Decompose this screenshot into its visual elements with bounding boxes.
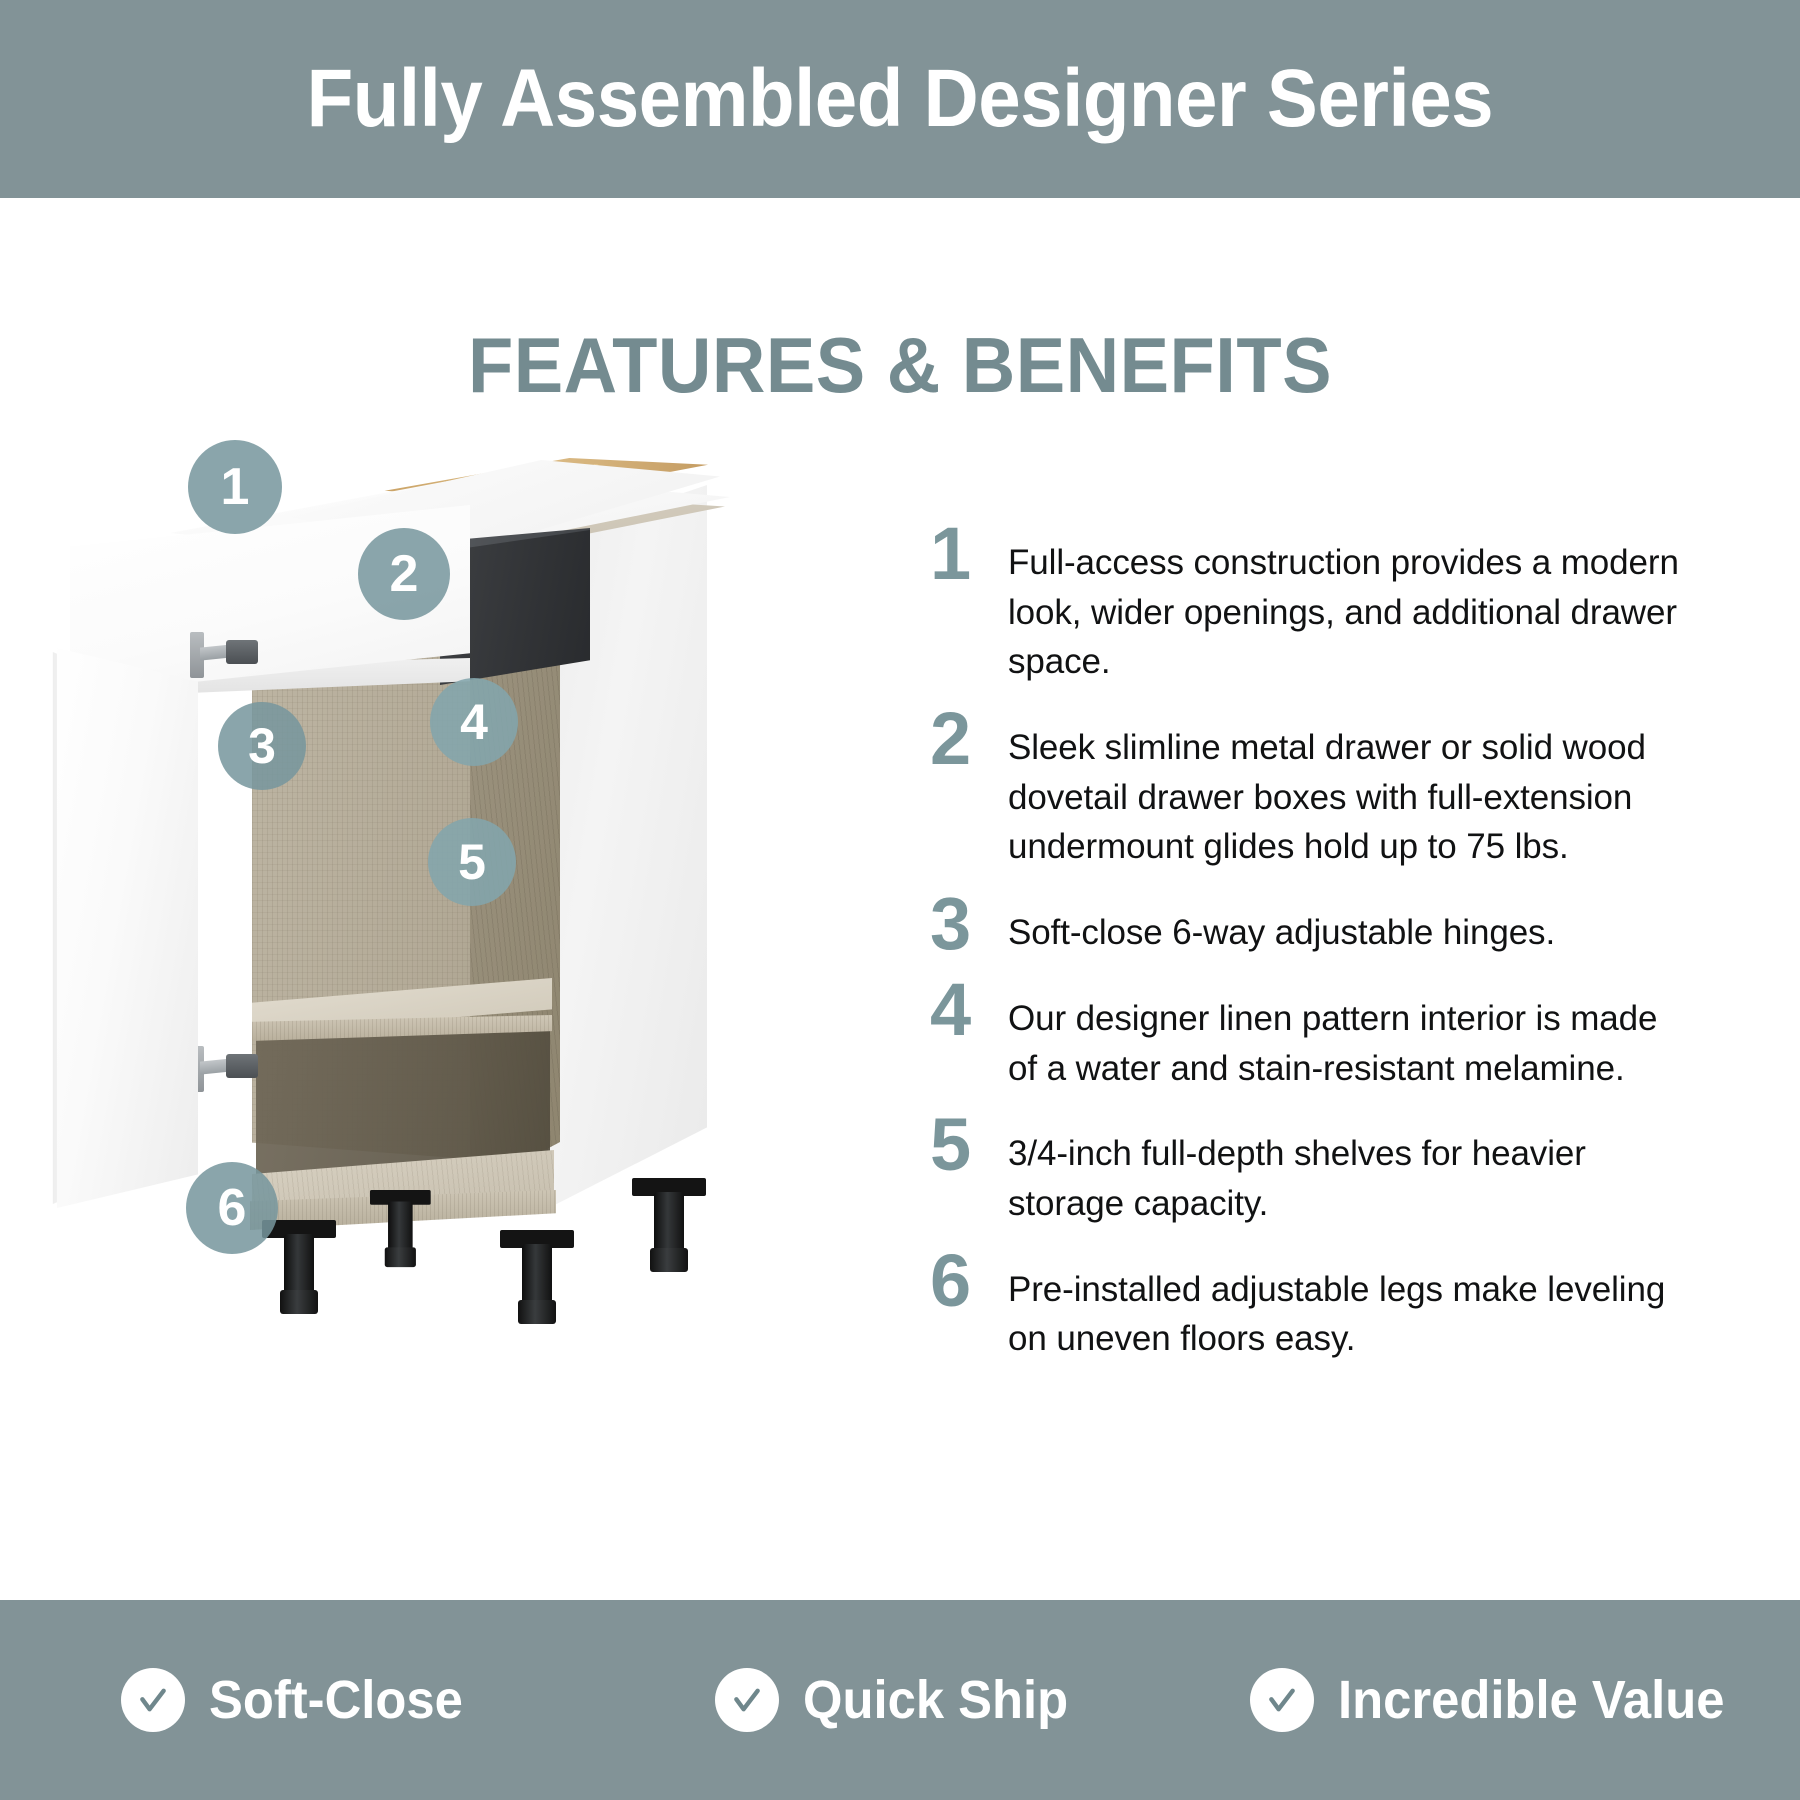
callout-badge-1[interactable]: 1 <box>188 440 282 534</box>
check-icon <box>121 1668 185 1732</box>
callout-badge-4[interactable]: 4 <box>430 678 518 766</box>
product-image: 1 2 3 4 5 6 <box>40 430 820 1360</box>
leg-foot <box>518 1300 556 1324</box>
leg-post <box>654 1192 684 1254</box>
leg-post <box>284 1234 314 1296</box>
feature-number: 1 <box>930 520 1008 586</box>
hinge-cup <box>226 1054 258 1078</box>
soft-close-hinge-icon <box>190 1040 260 1098</box>
feature-number: 3 <box>930 890 1008 956</box>
feature-description: Sleek slimline metal drawer or solid woo… <box>1008 705 1690 872</box>
leg-foot <box>280 1290 318 1314</box>
footer-label: Soft-Close <box>209 1669 463 1731</box>
features-list: 1 Full-access construction provides a mo… <box>930 520 1690 1382</box>
feature-description: Our designer linen pattern interior is m… <box>1008 976 1690 1093</box>
header-bar: Fully Assembled Designer Series <box>0 0 1800 198</box>
soft-close-hinge-icon <box>190 626 260 684</box>
feature-description: Pre-installed adjustable legs make level… <box>1008 1247 1690 1364</box>
feature-number: 6 <box>930 1247 1008 1313</box>
callout-badge-2[interactable]: 2 <box>358 528 450 620</box>
leg-post <box>388 1201 413 1252</box>
footer-label: Incredible Value <box>1338 1669 1725 1731</box>
feature-number: 2 <box>930 705 1008 771</box>
callout-badge-6[interactable]: 6 <box>186 1162 278 1254</box>
check-icon <box>1250 1668 1314 1732</box>
feature-description: Full-access construction provides a mode… <box>1008 520 1690 687</box>
footer-badge-quick-ship: Quick Ship <box>600 1668 1200 1732</box>
feature-item: 3 Soft-close 6-way adjustable hinges. <box>930 890 1690 958</box>
feature-item: 1 Full-access construction provides a mo… <box>930 520 1690 687</box>
page-title: Fully Assembled Designer Series <box>307 52 1493 146</box>
infographic-page: Fully Assembled Designer Series FEATURES… <box>0 0 1800 1800</box>
feature-description: 3/4-inch full-depth shelves for heavier … <box>1008 1111 1690 1228</box>
feature-item: 4 Our designer linen pattern interior is… <box>930 976 1690 1093</box>
feature-description: Soft-close 6-way adjustable hinges. <box>1008 890 1690 958</box>
callout-badge-3[interactable]: 3 <box>218 702 306 790</box>
footer-badge-incredible-value: Incredible Value <box>1200 1668 1800 1732</box>
callout-badge-5[interactable]: 5 <box>428 818 516 906</box>
feature-item: 5 3/4-inch full-depth shelves for heavie… <box>930 1111 1690 1228</box>
leg-post <box>522 1244 552 1306</box>
feature-item: 6 Pre-installed adjustable legs make lev… <box>930 1247 1690 1364</box>
leg-foot <box>650 1248 688 1272</box>
footer-label: Quick Ship <box>803 1669 1068 1731</box>
footer-badge-soft-close: Soft-Close <box>0 1668 600 1732</box>
leg-foot <box>385 1247 416 1267</box>
cabinet-door-panel <box>48 648 198 1208</box>
cabinet-illustration: 1 2 3 4 5 6 <box>40 430 820 1360</box>
footer-bar: Soft-Close Quick Ship Incredible Value <box>0 1600 1800 1800</box>
check-icon <box>715 1668 779 1732</box>
feature-number: 5 <box>930 1111 1008 1177</box>
hinge-cup <box>226 640 258 664</box>
feature-item: 2 Sleek slimline metal drawer or solid w… <box>930 705 1690 872</box>
feature-number: 4 <box>930 976 1008 1042</box>
section-heading: FEATURES & BENEFITS <box>45 320 1755 411</box>
